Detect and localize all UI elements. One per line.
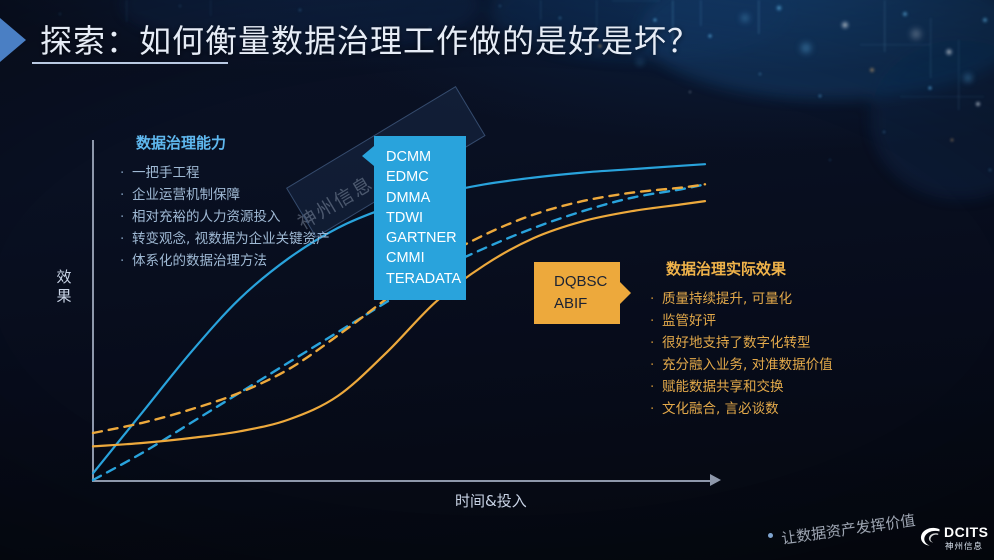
bullet-icon: · (650, 354, 662, 376)
footer-bullet-icon (768, 533, 773, 538)
list-item: ·相对充裕的人力资源投入 (120, 206, 330, 228)
list-item: ·一把手工程 (120, 162, 330, 184)
standard-item: TERADATA (386, 269, 466, 289)
list-item-label: 文化融合, 言必谈数 (662, 401, 779, 417)
bullet-icon: · (650, 398, 662, 420)
bullet-icon: · (650, 310, 662, 332)
metrics-list-orange: DQBSC ABIF (534, 262, 631, 324)
list-item: ·赋能数据共享和交换 (650, 376, 833, 398)
list-item-label: 相对充裕的人力资源投入 (132, 209, 281, 225)
list-item: ·文化融合, 言必谈数 (650, 398, 833, 420)
list-item-label: 企业运营机制保障 (132, 187, 240, 203)
chart-curves (0, 0, 994, 560)
list-item-label: 赋能数据共享和交换 (662, 379, 784, 395)
list-item: ·监管好评 (650, 310, 833, 332)
bullet-icon: · (650, 376, 662, 398)
list-item: ·体系化的数据治理方法 (120, 250, 330, 272)
capability-list: ·一把手工程 ·企业运营机制保障 ·相对充裕的人力资源投入 ·转变观念, 视数据… (120, 162, 330, 272)
company-logo: DCITS 神州信息 (920, 524, 994, 556)
capability-text-block: 数据治理能力 ·一把手工程 ·企业运营机制保障 ·相对充裕的人力资源投入 ·转变… (120, 132, 330, 272)
list-item: ·转变观念, 视数据为企业关键资产 (120, 228, 330, 250)
effect-heading: 数据治理实际效果 (650, 258, 833, 279)
capability-heading: 数据治理能力 (120, 132, 330, 153)
standard-item: CMMI (386, 248, 466, 268)
metrics-callout-orange: DQBSC ABIF (534, 262, 631, 324)
list-item-label: 转变观念, 视数据为企业关键资产 (132, 231, 330, 247)
list-item: ·很好地支持了数字化转型 (650, 332, 833, 354)
bullet-icon: · (120, 184, 132, 206)
standards-list-blue: DCMM EDMC DMMA TDWI GARTNER CMMI TERADAT… (362, 136, 466, 300)
standards-callout-blue: DCMM EDMC DMMA TDWI GARTNER CMMI TERADAT… (362, 136, 466, 300)
effect-text-block: 数据治理实际效果 ·质量持续提升, 可量化 ·监管好评 ·很好地支持了数字化转型… (650, 258, 833, 420)
logo-subtitle: 神州信息 (945, 540, 983, 552)
logo-wordmark: DCITS (944, 524, 989, 540)
list-item: ·企业运营机制保障 (120, 184, 330, 206)
standard-item: DMMA (386, 188, 466, 208)
bullet-icon: · (120, 228, 132, 250)
standard-item: GARTNER (386, 228, 466, 248)
standard-item: TDWI (386, 208, 466, 228)
standard-item: DCMM (386, 147, 466, 167)
list-item-label: 充分融入业务, 对准数据价值 (662, 357, 833, 373)
list-item-label: 体系化的数据治理方法 (132, 253, 267, 269)
bullet-icon: · (120, 250, 132, 272)
metric-item: ABIF (554, 293, 631, 315)
standard-item: EDMC (386, 167, 466, 187)
bullet-icon: · (120, 206, 132, 228)
list-item-label: 很好地支持了数字化转型 (662, 335, 811, 351)
list-item: ·质量持续提升, 可量化 (650, 288, 833, 310)
bullet-icon: · (120, 162, 132, 184)
list-item-label: 一把手工程 (132, 165, 200, 181)
effect-list: ·质量持续提升, 可量化 ·监管好评 ·很好地支持了数字化转型 ·充分融入业务,… (650, 288, 833, 420)
logo-swoosh-icon (920, 526, 942, 552)
list-item-label: 质量持续提升, 可量化 (662, 291, 792, 307)
bullet-icon: · (650, 332, 662, 354)
metric-item: DQBSC (554, 271, 631, 293)
list-item-label: 监管好评 (662, 313, 716, 329)
list-item: ·充分融入业务, 对准数据价值 (650, 354, 833, 376)
bullet-icon: · (650, 288, 662, 310)
slide-canvas: 探索：如何衡量数据治理工作做的是好是坏？ 效果 时间&投入 数据治理能力 ·一把… (0, 0, 994, 560)
